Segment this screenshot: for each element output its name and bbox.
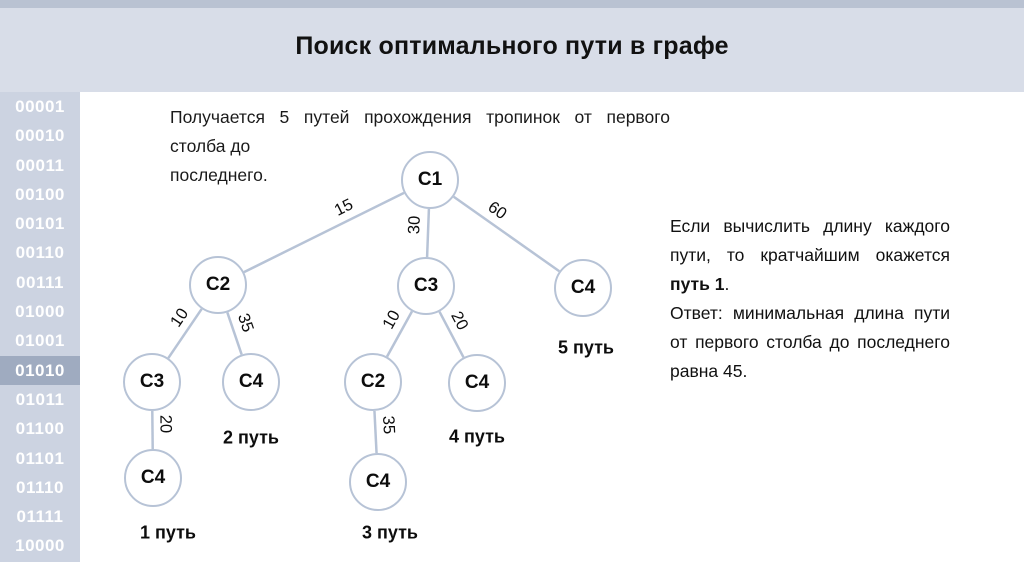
top-accent-strip bbox=[0, 0, 1024, 8]
sidebar-item-00100[interactable]: 00100 bbox=[0, 180, 80, 209]
sidebar-item-00110[interactable]: 00110 bbox=[0, 238, 80, 267]
content-area: Получается 5 путей прохождения тропинок … bbox=[80, 92, 1024, 562]
slide: Поиск оптимального пути в графе 00001000… bbox=[0, 0, 1024, 574]
sidebar-item-01001[interactable]: 01001 bbox=[0, 326, 80, 355]
graph-node-C4[interactable]: C4 bbox=[554, 259, 612, 317]
sidebar-item-01010[interactable]: 01010 bbox=[0, 356, 80, 385]
sidebar-item-01101[interactable]: 01101 bbox=[0, 444, 80, 473]
sidebar-binary-index: 0000100010000110010000101001100011101000… bbox=[0, 92, 80, 562]
path-label-p1: 1 путь bbox=[140, 523, 196, 544]
graph-edge-C1-C2 bbox=[244, 193, 404, 272]
graph-node-C4[interactable]: C4 bbox=[222, 353, 280, 411]
page-title: Поиск оптимального пути в графе bbox=[0, 32, 1024, 61]
sidebar-item-00101[interactable]: 00101 bbox=[0, 209, 80, 238]
graph-node-C4[interactable]: C4 bbox=[448, 354, 506, 412]
graph-node-C3[interactable]: C3 bbox=[123, 353, 181, 411]
graph-node-C3[interactable]: C3 bbox=[397, 257, 455, 315]
edge-weight-label: 35 bbox=[378, 415, 398, 434]
graph-edges-layer bbox=[80, 92, 1024, 562]
header-band: Поиск оптимального пути в графе bbox=[0, 8, 1024, 92]
path-label-p4: 4 путь bbox=[449, 427, 505, 448]
sidebar-item-01011[interactable]: 01011 bbox=[0, 385, 80, 414]
path-label-p2: 2 путь bbox=[223, 428, 279, 449]
path-label-p5: 5 путь bbox=[558, 338, 614, 359]
graph-node-C1[interactable]: C1 bbox=[401, 151, 459, 209]
sidebar-item-01110[interactable]: 01110 bbox=[0, 473, 80, 502]
graph-edge-C2-C4 bbox=[374, 411, 376, 453]
sidebar-item-01111[interactable]: 01111 bbox=[0, 502, 80, 531]
graph-node-C4[interactable]: C4 bbox=[349, 453, 407, 511]
sidebar-item-01000[interactable]: 01000 bbox=[0, 297, 80, 326]
sidebar-item-00111[interactable]: 00111 bbox=[0, 268, 80, 297]
edge-weight-label: 30 bbox=[405, 215, 425, 234]
path-label-p3: 3 путь bbox=[362, 523, 418, 544]
graph-node-C4[interactable]: C4 bbox=[124, 449, 182, 507]
graph-edge-C1-C3 bbox=[427, 209, 429, 257]
sidebar-item-00001[interactable]: 00001 bbox=[0, 92, 80, 121]
graph-node-C2[interactable]: C2 bbox=[189, 256, 247, 314]
edge-weight-label: 20 bbox=[156, 415, 175, 434]
sidebar-item-00010[interactable]: 00010 bbox=[0, 121, 80, 150]
sidebar-item-10000[interactable]: 10000 bbox=[0, 531, 80, 560]
sidebar-item-00011[interactable]: 00011 bbox=[0, 151, 80, 180]
sidebar-bottom-spacer bbox=[0, 562, 1024, 574]
sidebar-item-01100[interactable]: 01100 bbox=[0, 414, 80, 443]
graph-diagram: 153060103520102035C1C2C3C4C3C4C2C4C4C41 … bbox=[80, 92, 1024, 562]
graph-node-C2[interactable]: C2 bbox=[344, 353, 402, 411]
